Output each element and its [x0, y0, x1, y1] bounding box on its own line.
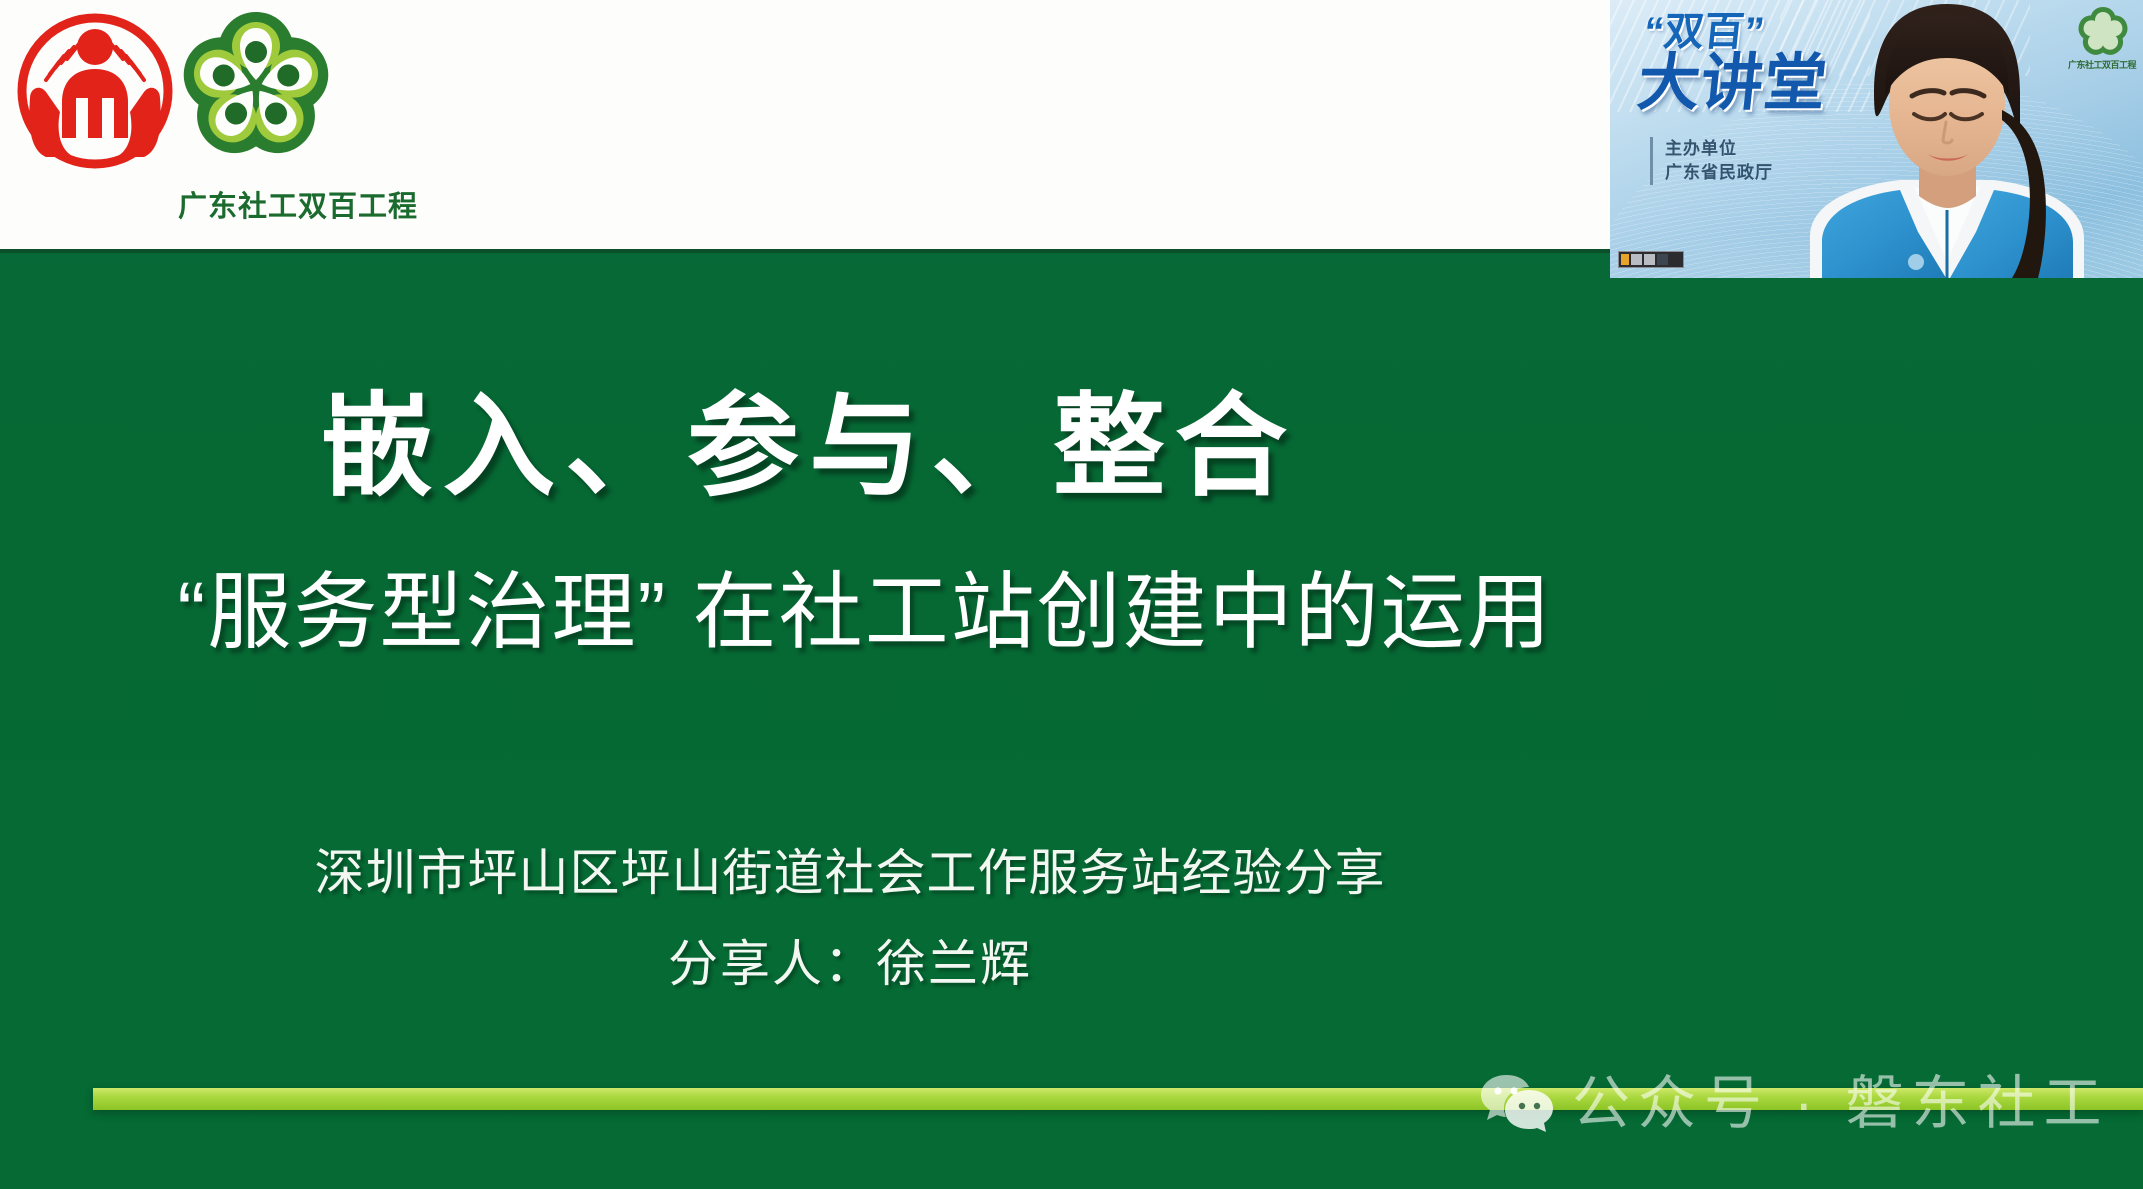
taskbar-window-icon-3[interactable]: [1657, 254, 1668, 265]
page-subtitle: “服务型治理” 在社工站创建中的运用: [0, 562, 1730, 662]
video-program-title-main: 大讲堂: [1634, 48, 1831, 120]
video-host-block: 主办单位 广东省民政厅: [1650, 137, 1773, 185]
organization-line: 深圳市坪山区坪山街道社会工作服务站经验分享: [0, 842, 1700, 904]
video-corner-logo-caption: 广东社工双百工程: [2067, 58, 2137, 71]
taskbar-window-icon-1[interactable]: [1631, 254, 1642, 265]
presenter-figure: [1788, 0, 2098, 278]
page-title: 嵌入、参与、整合: [0, 382, 1618, 512]
presenter-line: 分享人：徐兰辉: [0, 933, 1700, 995]
guangdong-social-work-flower-logo: [176, 4, 336, 172]
slide-header-band: 广东社工双百工程: [0, 0, 1618, 253]
presenter-video-panel[interactable]: “双百” 大讲堂 主办单位 广东省民政厅: [1610, 0, 2143, 278]
video-corner-flower-logo: [2075, 4, 2131, 60]
accent-divider-bar: [93, 1088, 2143, 1110]
taskbar-window-icon-2[interactable]: [1644, 254, 1655, 265]
taskbar-start-icon[interactable]: [1621, 254, 1629, 265]
guangdong-logo-caption: 广东社工双百工程: [178, 190, 440, 224]
video-host-name: 广东省民政厅: [1665, 161, 1773, 185]
video-host-label: 主办单位: [1665, 137, 1773, 161]
presentation-slide: 广东社工双百工程: [0, 0, 2143, 1189]
mini-taskbar[interactable]: [1618, 251, 1684, 268]
civil-affairs-emblem: [16, 6, 174, 176]
